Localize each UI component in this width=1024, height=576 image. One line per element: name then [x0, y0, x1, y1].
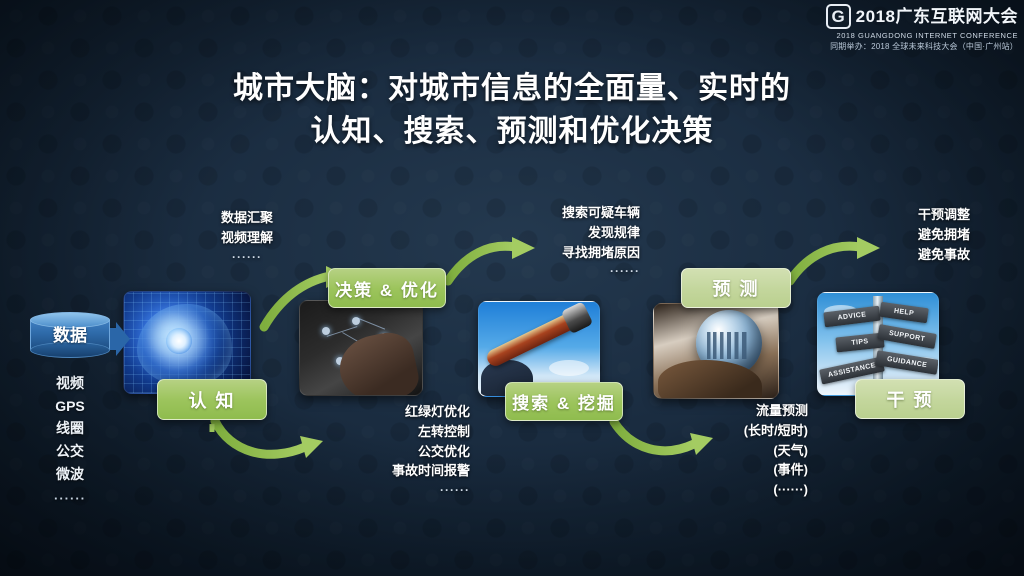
- data-source-item: 公交: [22, 440, 118, 463]
- crystal-ball-photo: [653, 303, 779, 399]
- touch-interface-photo: [299, 300, 423, 396]
- annotation-ellipsis: ······: [338, 481, 470, 499]
- touch-link: [357, 317, 385, 329]
- data-source-ellipsis: ······: [22, 488, 118, 509]
- annotation-cognition: 数据汇聚 视频理解 ······: [185, 208, 309, 266]
- annotation-decision: 红绿灯优化 左转控制 公交优化 事故时间报警 ······: [338, 402, 470, 499]
- telescope-lens: [561, 301, 594, 334]
- annotation-ellipsis: ······: [185, 248, 309, 266]
- annotation-prediction: 流量预测 (长时/短时) (天气) (事件) (······): [700, 401, 808, 500]
- conference-logo-icon: G: [826, 4, 851, 29]
- annotation-line: 发现规律: [508, 223, 640, 243]
- page-title-line-1: 城市大脑：对城市信息的全面量、实时的: [0, 68, 1024, 111]
- stage-pill-decision[interactable]: 决策 & 优化: [328, 268, 446, 308]
- data-source-item: 视频: [22, 372, 118, 395]
- conference-subtitle: 同期举办：2018 全球未来科技大会（中国·广州站）: [830, 43, 1018, 51]
- annotation-line: (······): [700, 480, 808, 500]
- data-source-item: 线圈: [22, 417, 118, 440]
- data-source-item: 微波: [22, 463, 118, 486]
- annotation-line: (长时/短时): [700, 421, 808, 441]
- brain-core-glow: [166, 328, 192, 354]
- stage-pill-intervention[interactable]: 干 预: [855, 379, 965, 419]
- annotation-line: 视频理解: [185, 228, 309, 248]
- annotation-line: 公交优化: [338, 442, 470, 462]
- annotation-line: (天气): [700, 441, 808, 461]
- cloud-shape: [549, 360, 589, 376]
- annotation-line: 避免事故: [888, 245, 1000, 265]
- annotation-line: 寻找拥堵原因: [508, 243, 640, 263]
- database-label: 数据: [30, 321, 110, 346]
- city-reflection: [707, 332, 752, 358]
- annotation-line: (事件): [700, 460, 808, 480]
- touch-node: [322, 327, 330, 335]
- annotation-intervention: 干预调整 避免拥堵 避免事故: [888, 205, 1000, 264]
- data-source-group: 数据 视频 GPS 线圈 公交 微波 ······: [22, 312, 118, 509]
- annotation-ellipsis: ······: [508, 262, 640, 280]
- conference-title-cn: 2018广东互联网大会: [856, 8, 1018, 25]
- logo-primary-row: G 2018广东互联网大会: [826, 4, 1018, 29]
- data-source-list: 视频 GPS 线圈 公交 微波 ······: [22, 372, 118, 509]
- stage-pill-cognition[interactable]: 认 知: [157, 379, 267, 420]
- database-cylinder-icon: 数据: [30, 312, 110, 356]
- annotation-line: 避免拥堵: [888, 225, 1000, 245]
- signpost-plank-support: SUPPORT: [877, 324, 937, 349]
- signpost-plank-guidance: GUIDANCE: [875, 350, 939, 375]
- slide-canvas: G 2018广东互联网大会 2018 GUANGDONG INTERNET CO…: [0, 0, 1024, 576]
- conference-logo: G 2018广东互联网大会 2018 GUANGDONG INTERNET CO…: [826, 4, 1018, 51]
- annotation-line: 左转控制: [338, 422, 470, 442]
- annotation-line: 干预调整: [888, 205, 1000, 225]
- annotation-line: 数据汇聚: [185, 208, 309, 228]
- signpost-plank-help: HELP: [879, 302, 929, 324]
- page-title-line-2: 认知、搜索、预测和优化决策: [0, 111, 1024, 154]
- hand-silhouette: [334, 328, 422, 396]
- stage-pill-search[interactable]: 搜索 & 挖掘: [505, 382, 623, 421]
- annotation-search: 搜索可疑车辆 发现规律 寻找拥堵原因 ······: [508, 203, 640, 280]
- stage-pill-prediction[interactable]: 预 测: [681, 268, 791, 308]
- data-source-item: GPS: [22, 395, 118, 418]
- annotation-line: 流量预测: [700, 401, 808, 421]
- conference-title-en: 2018 GUANGDONG INTERNET CONFERENCE: [836, 32, 1018, 40]
- annotation-line: 搜索可疑车辆: [508, 203, 640, 223]
- annotation-line: 红绿灯优化: [338, 402, 470, 422]
- page-title: 城市大脑：对城市信息的全面量、实时的 认知、搜索、预测和优化决策: [0, 68, 1024, 153]
- annotation-line: 事故时间报警: [338, 461, 470, 481]
